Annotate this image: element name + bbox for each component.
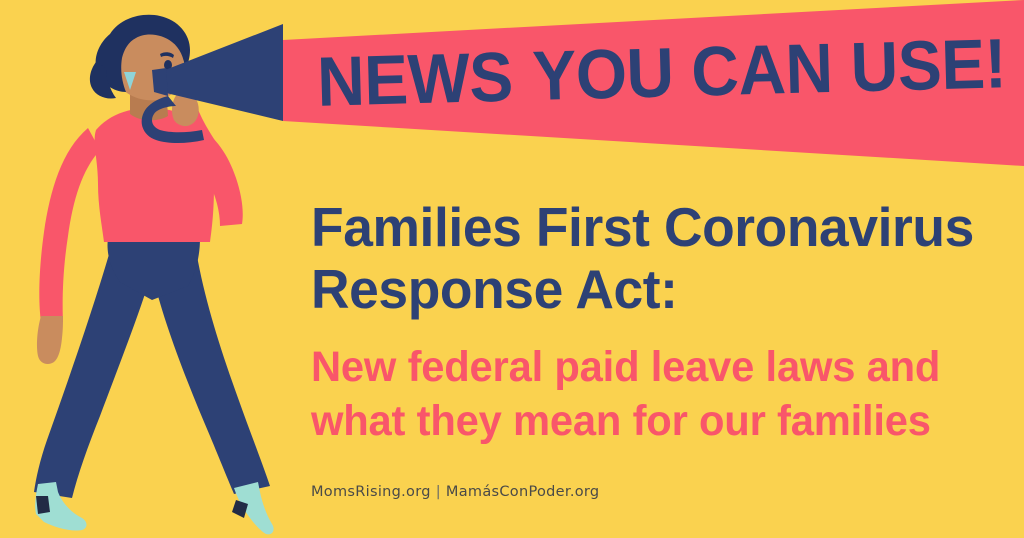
woman-with-megaphone-illustration: [0, 0, 300, 538]
poster: NEWS YOU CAN USE!: [0, 0, 1024, 538]
footer-site-english[interactable]: MomsRising.org: [311, 484, 431, 500]
headline-word-4: USE!: [850, 28, 1007, 102]
title-line-1: Families First Coronavirus: [311, 196, 980, 258]
subtitle-line-1: New federal paid leave laws and: [311, 340, 980, 394]
headline-word-2: YOU: [531, 37, 674, 111]
left-boot-heel: [36, 496, 50, 514]
headline-word-3: CAN: [690, 33, 833, 107]
left-hand: [37, 316, 63, 364]
subtitle-block: New federal paid leave laws and what the…: [311, 340, 1001, 448]
megaphone-mouthpiece: [152, 68, 168, 96]
title-line-2: Response Act:: [311, 258, 980, 320]
main-text-block: Families First Coronavirus Response Act:…: [311, 196, 1001, 448]
headline-banner-text: NEWS YOU CAN USE!: [310, 22, 1012, 123]
subtitle-line-2: what they mean for our families: [311, 394, 980, 448]
footer-separator: |: [431, 484, 446, 500]
left-arm-sleeve: [39, 128, 100, 322]
footer-websites: MomsRising.org|MamásConPoder.org: [311, 484, 599, 500]
headline-word-1: NEWS: [316, 42, 513, 117]
footer-site-spanish[interactable]: MamásConPoder.org: [446, 484, 600, 500]
